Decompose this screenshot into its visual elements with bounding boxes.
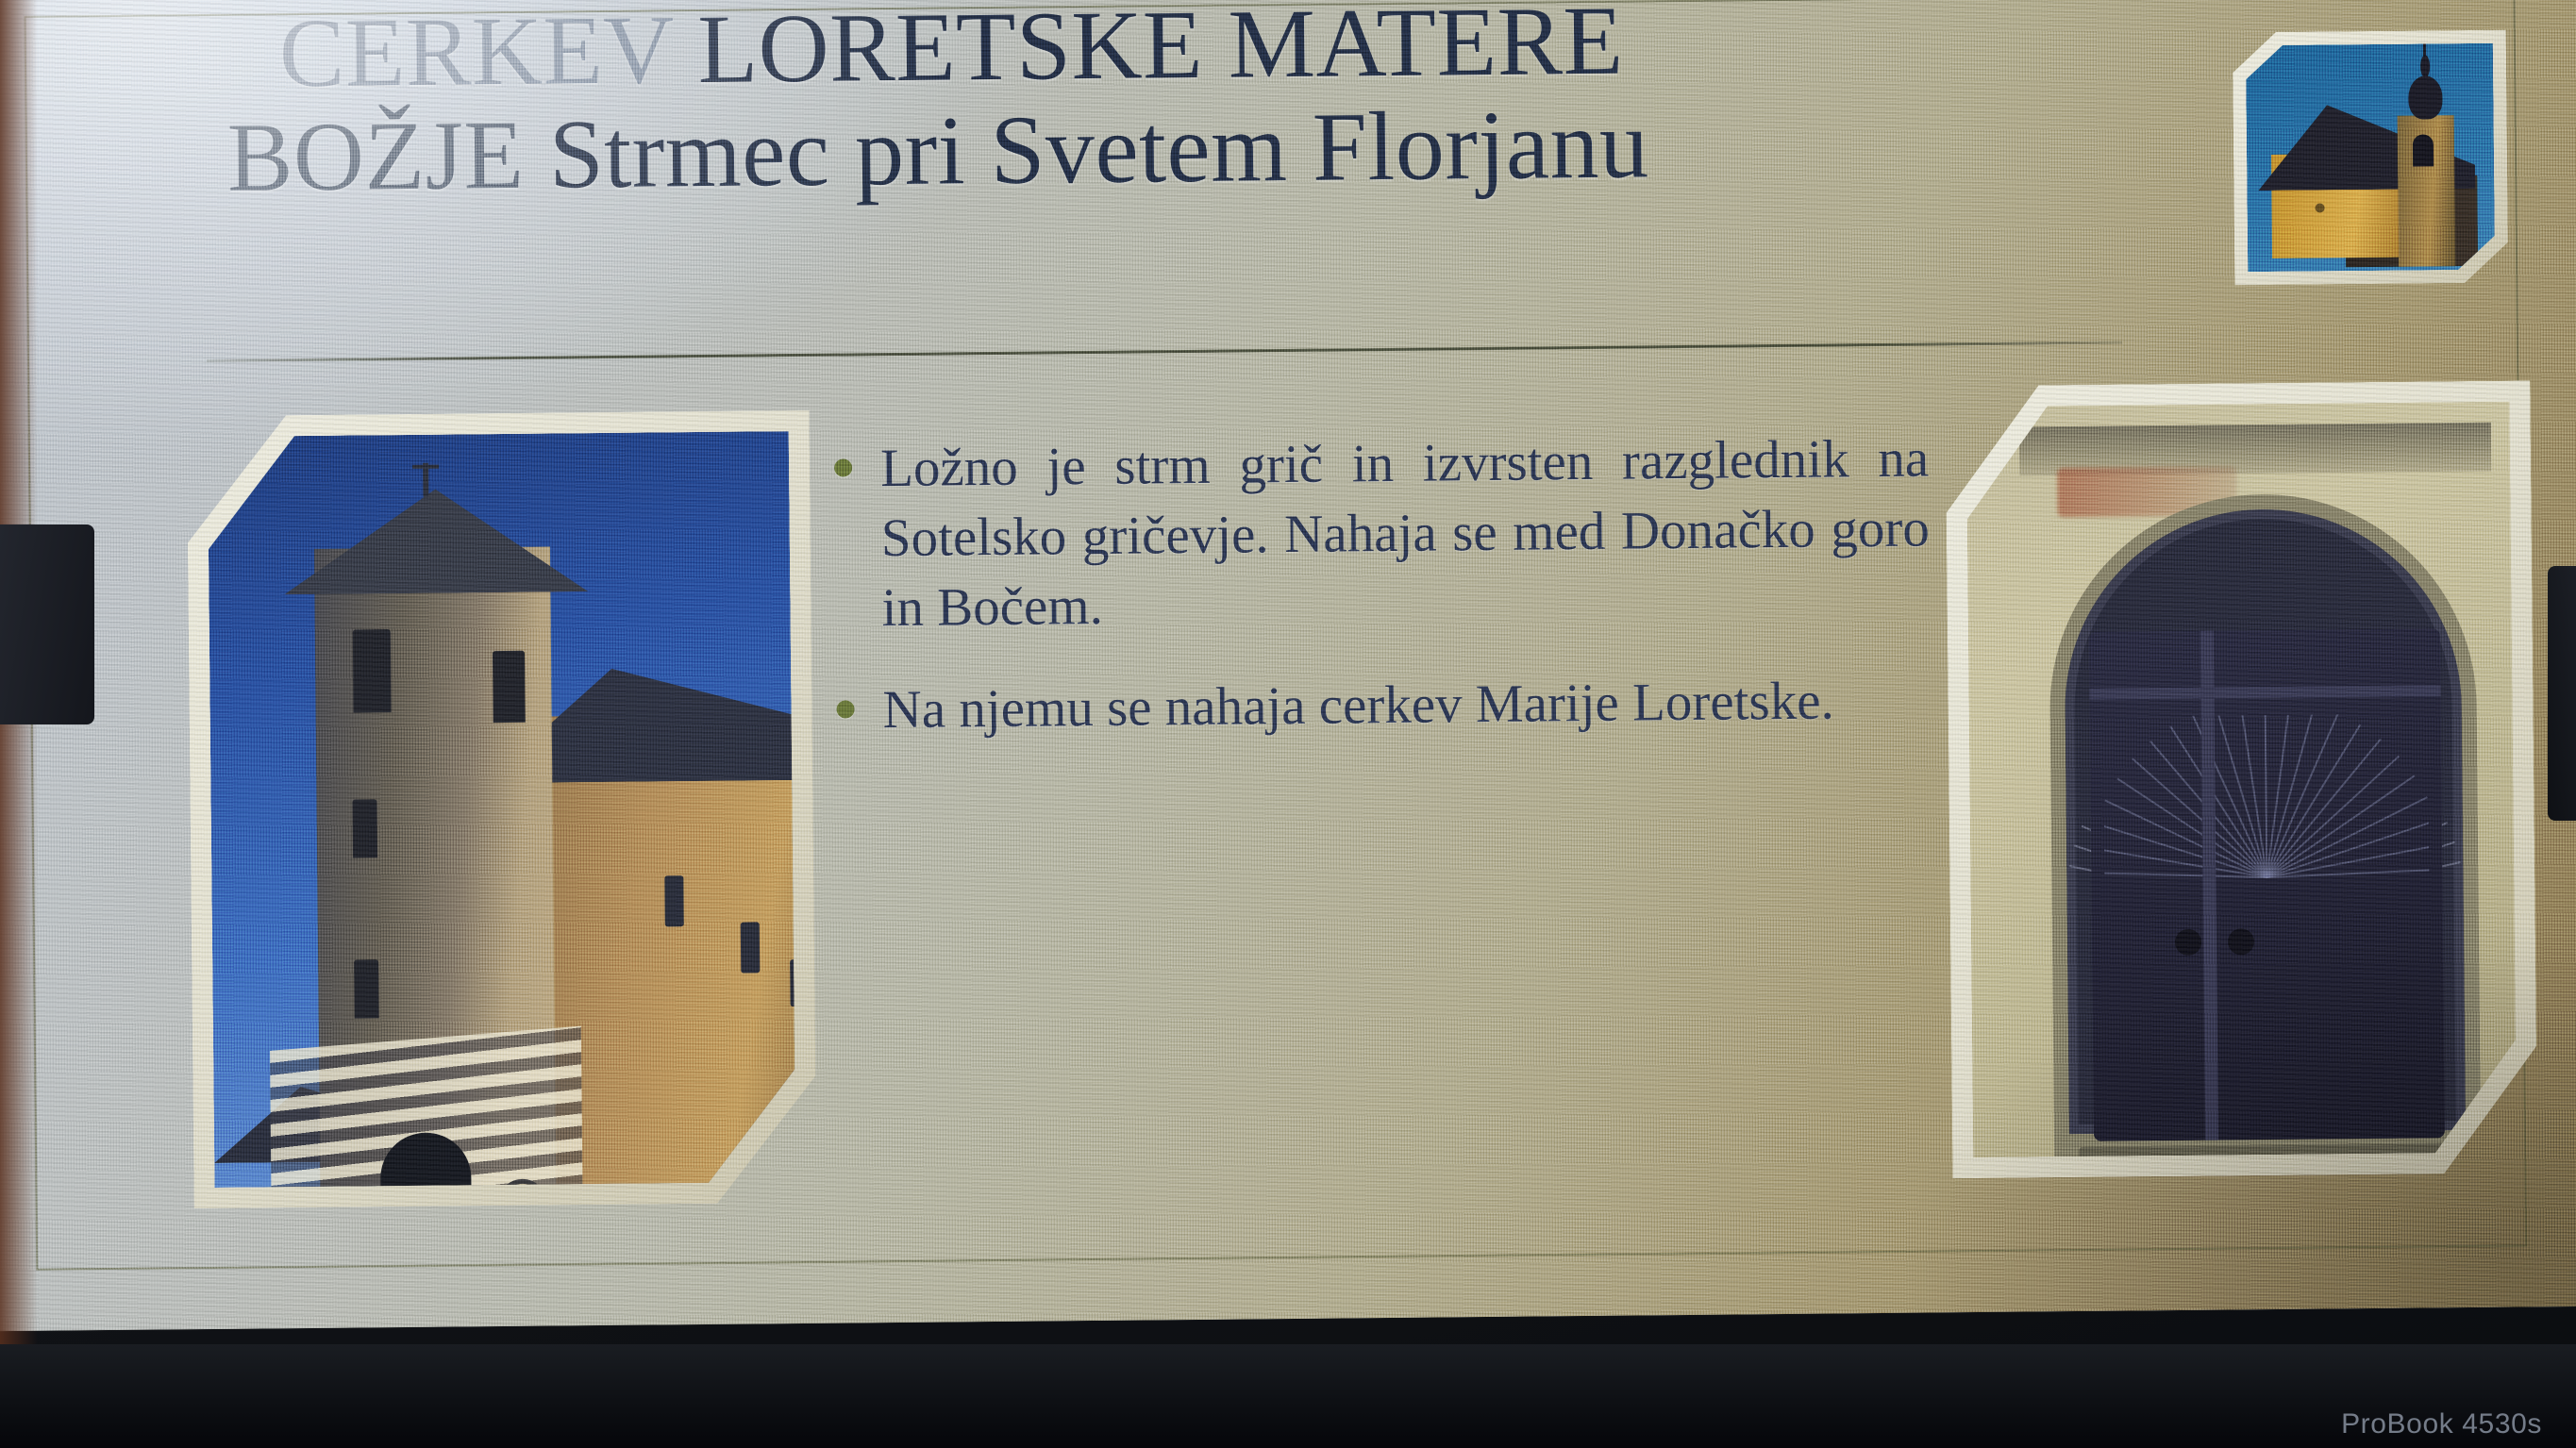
bullet-dot-icon	[837, 701, 855, 719]
laptop-model-badge: ProBook 4530s	[2341, 1408, 2542, 1440]
laptop-screen-photograph: CERKEV LORETSKE MATERE BOŽJE Strmec pri …	[0, 0, 2576, 1448]
arched-church-door-photo	[1945, 380, 2537, 1178]
tower-window	[352, 799, 377, 857]
bullet-text: Ložno je strm grič in izvrsten razgledni…	[880, 424, 1931, 643]
belfry-louver	[493, 651, 526, 723]
title-line-2-part-1: BOŽJE	[226, 101, 549, 212]
thumbnail-onion-dome	[2408, 75, 2442, 119]
title-line-1-part-2: LORETSKE MATERE	[697, 0, 1624, 104]
church-bell-tower-photo	[187, 410, 817, 1208]
thumbnail-window	[2316, 203, 2325, 212]
bezel-right-edge-tab	[2548, 566, 2576, 821]
bullet-item: Na njemu se nahaja cerkev Marije Loretsk…	[836, 666, 1932, 746]
title-line-2-part-2: Strmec pri Svetem Florjanu	[548, 91, 1649, 209]
bullet-text: Na njemu se nahaja cerkev Marije Loretsk…	[882, 666, 1932, 746]
small-church-thumbnail	[2233, 30, 2509, 286]
door-knob	[2228, 928, 2254, 955]
slide-body-text: Ložno je strm grič in izvrsten razgledni…	[834, 424, 1932, 777]
nave-window	[664, 875, 684, 926]
nave-window	[741, 922, 761, 973]
left-photo-image	[208, 431, 796, 1188]
sunburst-grille	[2103, 713, 2431, 1040]
bullet-item: Ložno je strm grič in izvrsten razgledni…	[834, 424, 1931, 643]
title-line-2: BOŽJE Strmec pri Svetem Florjanu	[217, 87, 2256, 210]
thumbnail-image	[2246, 43, 2495, 273]
tower-cross-finial	[423, 463, 428, 497]
tower-window	[354, 959, 379, 1018]
right-photo-image	[1966, 402, 2517, 1157]
door-knob	[2175, 929, 2201, 956]
bezel-left-hinge-tab	[0, 524, 94, 724]
presentation-slide: CERKEV LORETSKE MATERE BOŽJE Strmec pri …	[0, 0, 2576, 1331]
nave-window	[790, 959, 795, 1007]
bullet-dot-icon	[834, 458, 852, 476]
slide-title: CERKEV LORETSKE MATERE BOŽJE Strmec pri …	[216, 0, 2256, 210]
lcd-panel: CERKEV LORETSKE MATERE BOŽJE Strmec pri …	[0, 0, 2576, 1331]
bezel-bottom-strip: ProBook 4530s	[0, 1344, 2576, 1448]
title-line-1-part-1: CERKEV	[278, 0, 698, 108]
thumbnail-belfry-opening	[2413, 134, 2434, 166]
belfry-louver	[353, 629, 392, 712]
